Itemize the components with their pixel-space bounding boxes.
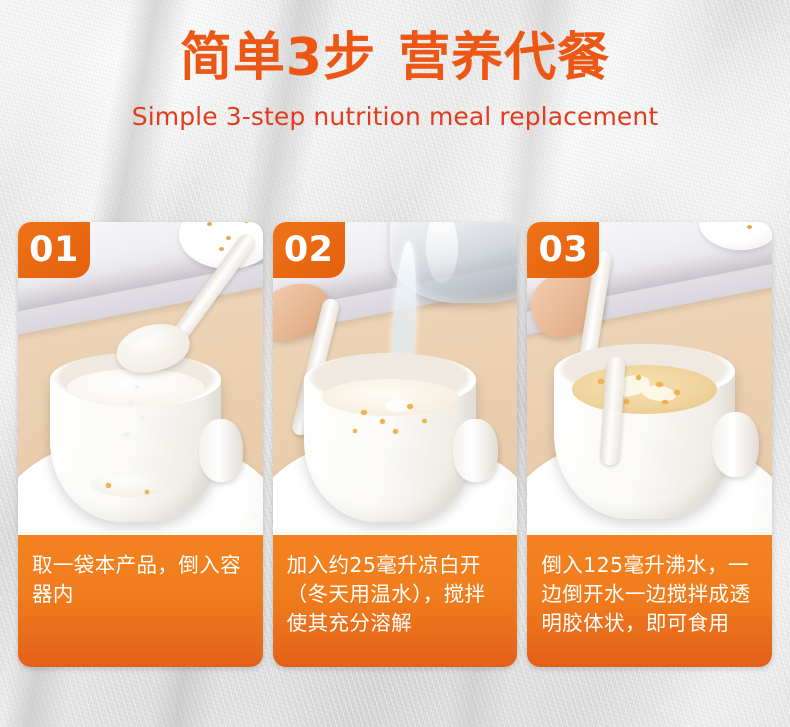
step-card-1[interactable]: 01 取一袋本产品，倒入容器内 [18, 222, 263, 667]
oat-speck [207, 222, 212, 226]
oat-bit [361, 410, 367, 415]
cup [304, 366, 475, 523]
oat-bit [393, 429, 398, 434]
pitcher-highlight [426, 222, 458, 283]
oat-bit [674, 390, 680, 395]
page-subtitle: Simple 3-step nutrition meal replacement [0, 102, 790, 131]
step-card-3[interactable]: 03 倒入125毫升沸水，一边倒开水一边搅拌成透明胶体状，即可食用 [527, 222, 772, 667]
cup-handle [199, 419, 244, 482]
steps-row: 01 取一袋本产品，倒入容器内 [18, 222, 772, 667]
oat-speck [219, 247, 224, 251]
cup-handle [712, 412, 759, 477]
oat-speck [226, 236, 231, 240]
page-title: 简单3步营养代餐 [0, 28, 790, 89]
oat-bit [662, 400, 668, 404]
step-number-badge-3: 03 [527, 222, 599, 278]
step-caption-2: 加入约25毫升凉白开（冬天用温水），搅拌使其充分溶解 [273, 535, 518, 667]
header: 简单3步营养代餐 Simple 3-step nutrition meal re… [0, 28, 790, 131]
step-number-badge-2: 02 [273, 222, 345, 278]
step-1-photo: 01 [18, 222, 263, 535]
step-2-photo: 02 [273, 222, 518, 535]
oat-bit [624, 399, 629, 404]
cup [50, 366, 221, 523]
step-number-badge-1: 01 [18, 222, 90, 278]
oat-bit [598, 379, 604, 384]
step-card-2[interactable]: 02 加入约25毫升凉白开（冬天用温水），搅拌使其充分溶解 [273, 222, 518, 667]
gel-soup [572, 365, 717, 414]
oat-bit [407, 404, 413, 409]
falling-powder [123, 432, 130, 437]
oat-speck [244, 222, 249, 223]
step-caption-1: 取一袋本产品，倒入容器内 [18, 535, 263, 667]
page-title-part1: 简单3步 [180, 28, 376, 88]
oat-speck [747, 225, 752, 229]
step-caption-3: 倒入125毫升沸水，一边倒开水一边搅拌成透明胶体状，即可食用 [527, 535, 772, 667]
step-3-photo: 03 [527, 222, 772, 535]
cup [554, 357, 735, 520]
page-title-part2: 营养代餐 [398, 28, 610, 88]
cup-handle [453, 419, 498, 482]
promo-page: 简单3步营养代餐 Simple 3-step nutrition meal re… [0, 0, 790, 727]
